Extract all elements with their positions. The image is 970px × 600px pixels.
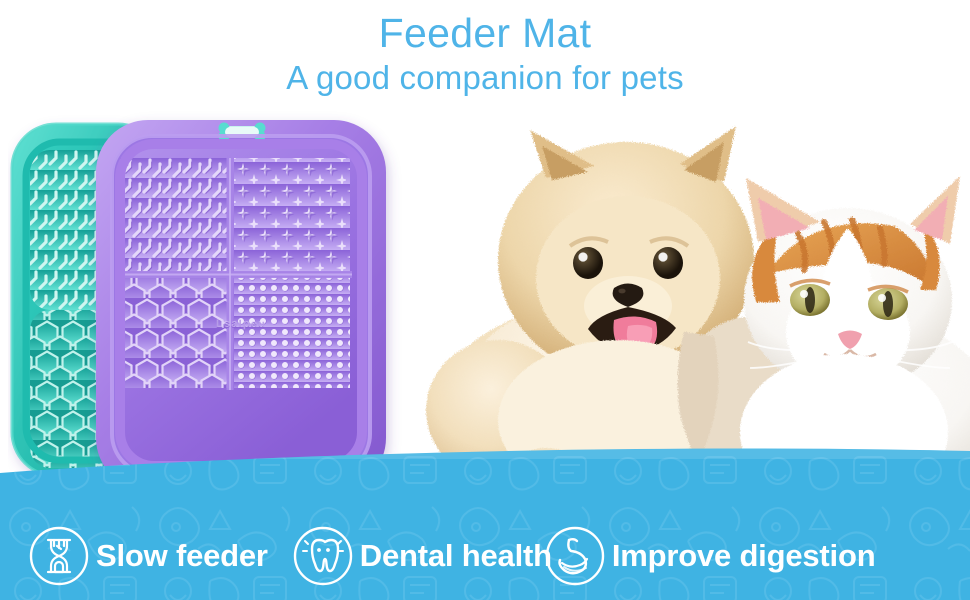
product-banner: Feeder Mat A good companion for pets [0,0,970,600]
svg-text:Lsalpeu: Lsalpeu [216,318,266,330]
feature-label: Dental health [360,539,552,573]
feature-dental-health[interactable]: Dental health [290,523,552,589]
quadrant-honeycomb [120,277,230,390]
feature-improve-digestion[interactable]: Improve digestion [542,523,876,589]
feature-label: Slow feeder [96,539,268,573]
quadrant-dots [234,277,352,390]
dog-eye-left [573,247,603,279]
page-subtitle: A good companion for pets [0,58,970,98]
stomach-icon [542,523,608,589]
headline-block: Feeder Mat A good companion for pets [0,8,970,98]
quadrant-star [234,158,352,274]
hourglass-feeder-icon [26,523,92,589]
feature-label: Improve digestion [612,539,876,573]
quadrant-chevron [120,158,230,274]
tooth-icon [290,523,356,589]
feature-list: Slow feeder Dental hea [0,512,970,600]
dog-eye-right [653,247,683,279]
purple-feeder-mat: Lsalpeu Lsalpeu [96,120,386,490]
page-title: Feeder Mat [0,8,970,58]
feature-slow-feeder[interactable]: Slow feeder [26,523,268,589]
